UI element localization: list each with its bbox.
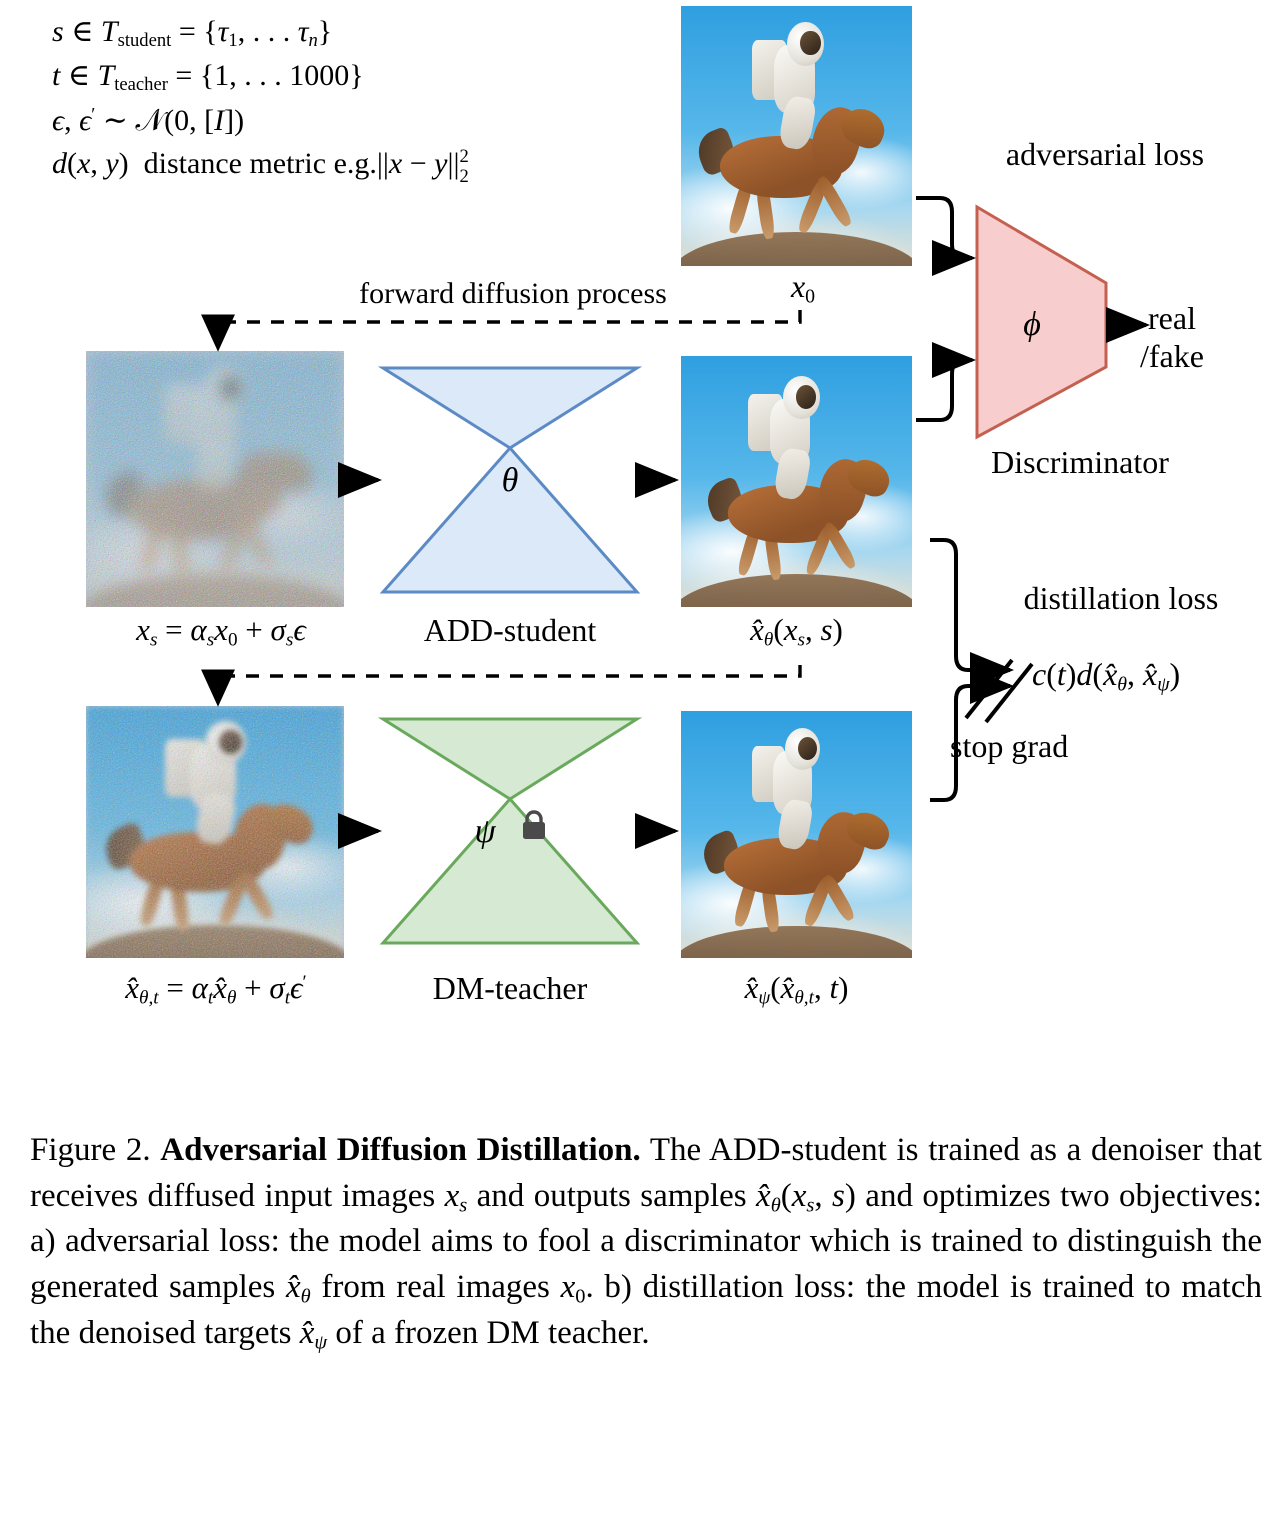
stop-gradient-slash-1 <box>966 660 1012 718</box>
caption-seg-4: from real images <box>311 1269 561 1305</box>
forward-diffusion-dashed-arrow <box>218 310 800 345</box>
student-output-image <box>681 356 912 607</box>
teacher-input-equation: x̂θ,t = αtx̂θ + σtϵ′ <box>46 970 386 1009</box>
noise-overlay-heavy <box>86 351 344 607</box>
notation-line-student-timesteps: s ∈ Tstudent = {τ1, . . . τn} <box>52 10 672 54</box>
notation-line-distance-metric: d(x, y) distance metric e.g.||x − y||22 <box>52 142 672 186</box>
noisy-input-image-teacher <box>86 706 344 958</box>
discriminator-symbol-phi: ϕ <box>1012 306 1052 344</box>
discriminator-name: Discriminator <box>930 444 1230 481</box>
distillation-objective: c(t)d(x̂θ, x̂ψ) <box>1032 656 1287 697</box>
caption-math-xs: xs <box>445 1178 468 1214</box>
teacher-output-image <box>681 711 912 958</box>
notation-line-noise-distribution: ϵ, ϵ′ ∼ 𝒩(0, [I]) <box>52 99 672 143</box>
discriminator-output-fake: /fake <box>1140 338 1280 375</box>
teacher-output-label: x̂ψ(x̂θ,t, t) <box>676 970 917 1009</box>
figure-number: Figure 2. <box>30 1132 151 1168</box>
student-to-teacher-dashed-arrow <box>218 665 800 700</box>
figure-title: Adversarial Diffusion Distillation. <box>160 1132 640 1168</box>
adversarial-loss-label: adversarial loss <box>940 136 1270 173</box>
stop-gradient-slash-2 <box>986 664 1032 722</box>
caption-seg-6: of a frozen DM teacher. <box>327 1315 650 1351</box>
caption-math-x0: x0 <box>561 1269 586 1305</box>
dm-teacher-name: DM-teacher <box>375 970 645 1007</box>
notation-line-teacher-timesteps: t ∈ Tteacher = {1, . . . 1000} <box>52 54 672 98</box>
notation-block: s ∈ Tstudent = {τ1, . . . τn} t ∈ Tteach… <box>52 10 672 186</box>
caption-seg-2: and outputs samples <box>467 1178 756 1214</box>
caption-math-xtheta: x̂θ <box>286 1269 311 1305</box>
forward-diffusion-label: forward diffusion process <box>298 277 728 311</box>
figure-caption: Figure 2. Adversarial Diffusion Distilla… <box>30 1128 1262 1357</box>
student-input-equation: xs = αsx0 + σsϵ <box>56 612 386 651</box>
add-student-name: ADD-student <box>375 612 645 649</box>
student-symbol-theta: θ <box>470 462 550 500</box>
discriminator-output-real: real <box>1148 300 1278 337</box>
noisy-input-image-xs <box>86 351 344 607</box>
figure-diagram: s ∈ Tstudent = {τ1, . . . τn} t ∈ Tteach… <box>0 0 1287 1100</box>
stop-grad-label: stop grad <box>950 728 1150 765</box>
noise-overlay-medium <box>86 706 344 958</box>
distillation-loss-label: distillation loss <box>966 580 1276 617</box>
caption-math-xpsi: x̂ψ <box>300 1315 327 1351</box>
student-output-label: x̂θ(xs, s) <box>681 612 912 651</box>
x0-label: x0 <box>760 268 846 309</box>
arrow-generated-image-to-discriminator <box>916 360 972 420</box>
arrow-real-image-to-discriminator <box>916 198 972 258</box>
teacher-symbol-psi: ψ <box>455 813 515 851</box>
real-image-x0 <box>681 6 912 266</box>
caption-math-student-output: x̂θ(xs, s) <box>756 1178 856 1214</box>
lock-icon <box>520 810 548 840</box>
